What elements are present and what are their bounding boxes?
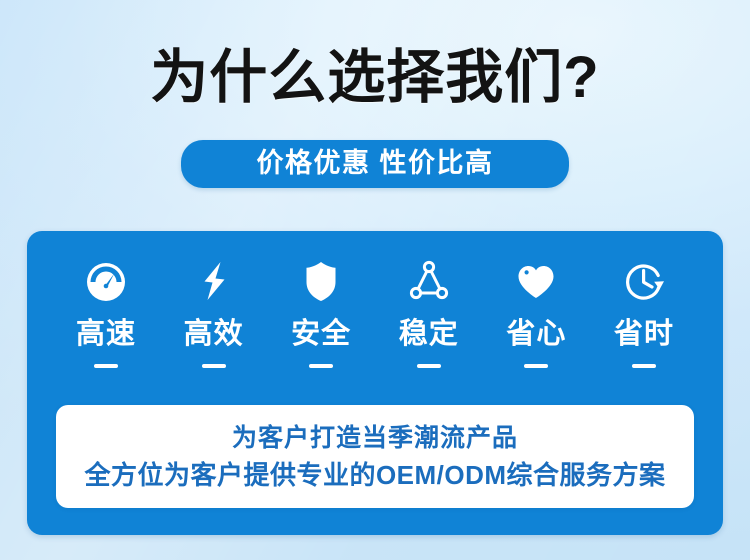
feature-item-gaosu: 高速: [53, 255, 159, 368]
service-summary-line-1: 为客户打造当季潮流产品: [232, 422, 518, 454]
shield-icon: [295, 255, 347, 307]
feature-underline: [309, 364, 333, 368]
subtitle-badge-row: 价格优惠 性价比高: [0, 140, 750, 188]
feature-underline: [417, 364, 441, 368]
triangle-network-icon: [403, 255, 455, 307]
feature-item-shengxin: 省心: [483, 255, 589, 368]
lightning-bolt-icon: [188, 255, 240, 307]
service-summary-line-2: 全方位为客户提供专业的OEM/ODM综合服务方案: [84, 459, 665, 492]
feature-label: 稳定: [399, 317, 459, 351]
service-summary-card: 为客户打造当季潮流产品 全方位为客户提供专业的OEM/ODM综合服务方案: [56, 405, 694, 508]
value-proposition-badge: 价格优惠 性价比高: [181, 140, 569, 188]
feature-label: 省心: [506, 317, 566, 351]
feature-underline: [632, 364, 656, 368]
features-row: 高速 高效 安全: [27, 255, 723, 368]
feature-item-shengshi: 省时: [591, 255, 697, 368]
feature-label: 高效: [184, 317, 244, 351]
clock-arrow-icon: [618, 255, 670, 307]
feature-item-wending: 稳定: [376, 255, 482, 368]
features-panel: 高速 高效 安全: [27, 231, 723, 535]
feature-item-gaoxiao: 高效: [161, 255, 267, 368]
feature-underline: [202, 364, 226, 368]
promo-banner: 为什么选择我们? 价格优惠 性价比高 高速: [0, 0, 750, 560]
gauge-icon: [80, 255, 132, 307]
feature-label: 高速: [76, 317, 136, 351]
feature-label: 省时: [614, 317, 674, 351]
heart-icon: [510, 255, 562, 307]
feature-underline: [94, 364, 118, 368]
page-title: 为什么选择我们?: [0, 44, 750, 112]
feature-label: 安全: [291, 317, 351, 351]
feature-underline: [524, 364, 548, 368]
feature-item-anquan: 安全: [268, 255, 374, 368]
